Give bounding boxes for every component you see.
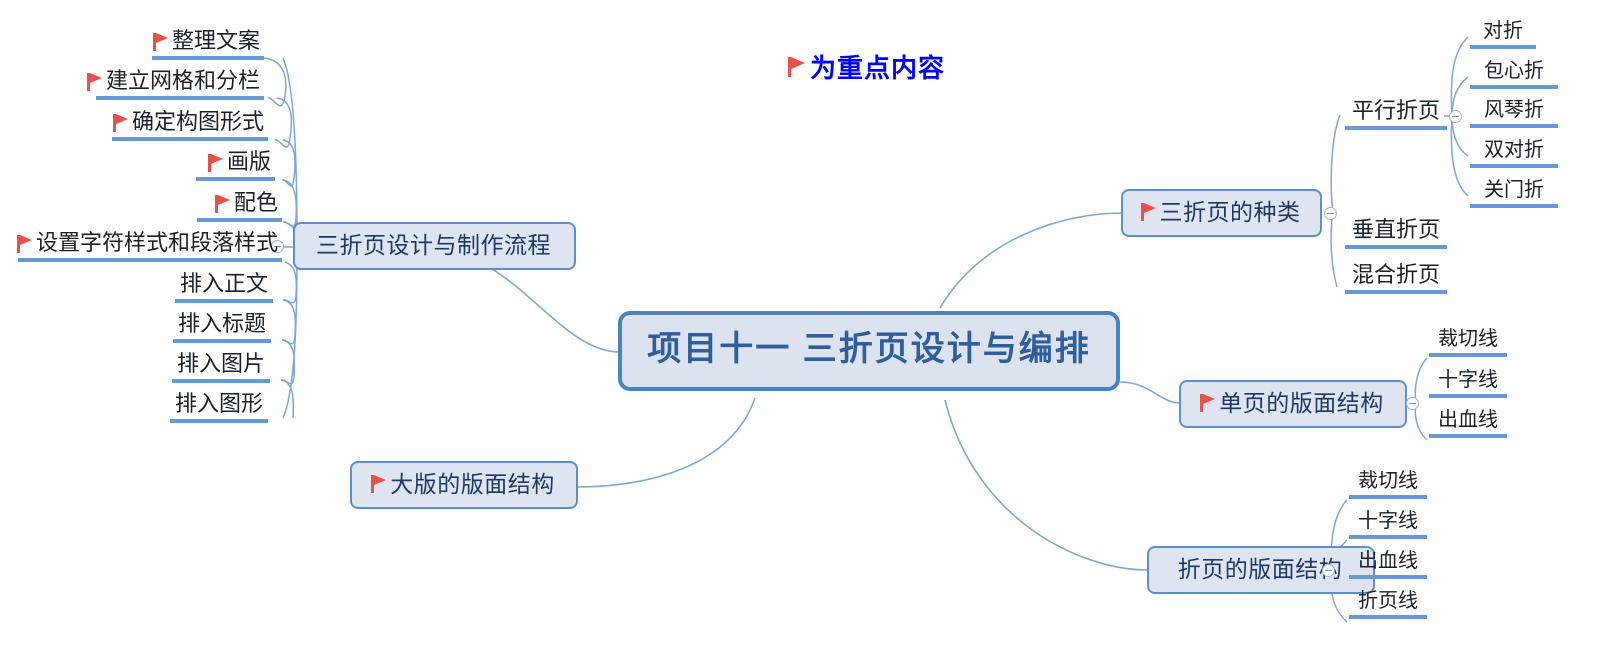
- leaf-parallel-3[interactable]: 双对折: [1470, 138, 1558, 168]
- branch-large-layout[interactable]: 大版的版面结构: [350, 461, 578, 509]
- leaf-label: 对折: [1483, 19, 1523, 44]
- leaf-parallel-0[interactable]: 对折: [1470, 19, 1536, 49]
- red-flag-icon: [1141, 202, 1157, 222]
- leaf-label: 整理文案: [172, 27, 260, 55]
- red-flag-icon: [17, 234, 33, 254]
- leaf-process-9[interactable]: 排入图形: [170, 390, 268, 423]
- leaf-label: 建立网格和分栏: [106, 67, 260, 95]
- leaf-label: 排入标题: [178, 310, 266, 338]
- leaf-fold-2[interactable]: 出血线: [1349, 549, 1427, 579]
- leaf-label: 排入图形: [175, 390, 263, 418]
- leaf-label: 关门折: [1484, 178, 1544, 203]
- leaf-process-1[interactable]: 建立网格和分栏: [96, 67, 264, 100]
- red-flag-icon: [208, 153, 224, 173]
- branch-types[interactable]: 三折页的种类: [1121, 189, 1322, 237]
- leaf-label: 风琴折: [1484, 98, 1544, 123]
- leaf-process-5[interactable]: 设置字符样式和段落样式: [18, 229, 282, 262]
- leaf-process-4[interactable]: 配色: [197, 189, 282, 222]
- leaf-fold-1[interactable]: 十字线: [1349, 509, 1427, 539]
- leaf-process-6[interactable]: 排入正文: [175, 270, 273, 303]
- leaf-label: 出血线: [1438, 408, 1498, 433]
- branch-fold-page-label: 折页的版面结构: [1178, 558, 1343, 581]
- leaf-fold-3[interactable]: 折页线: [1349, 589, 1427, 619]
- branch-single-page[interactable]: 单页的版面结构: [1179, 380, 1407, 428]
- leaf-label: 排入图片: [177, 350, 265, 378]
- node-vertical-fold[interactable]: 垂直折页: [1345, 216, 1447, 249]
- red-flag-icon: [87, 72, 103, 92]
- leaf-fold-0[interactable]: 裁切线: [1349, 469, 1427, 499]
- legend-key: 为重点内容: [788, 48, 945, 85]
- leaf-process-8[interactable]: 排入图片: [172, 350, 270, 383]
- branch-types-label: 三折页的种类: [1160, 201, 1301, 224]
- red-flag-icon: [371, 474, 387, 494]
- node-parallel-fold[interactable]: 平行折页: [1345, 97, 1447, 130]
- leaf-label: 裁切线: [1358, 469, 1418, 494]
- leaf-process-3[interactable]: 画版: [196, 148, 275, 181]
- toggle-types[interactable]: [1324, 207, 1337, 220]
- leaf-parallel-1[interactable]: 包心折: [1470, 59, 1558, 89]
- legend-text: 为重点内容: [810, 48, 945, 85]
- toggle-parallel-fold[interactable]: [1449, 110, 1462, 123]
- leaf-parallel-2[interactable]: 风琴折: [1470, 98, 1558, 128]
- leaf-label: 确定构图形式: [132, 108, 264, 136]
- red-flag-icon: [113, 113, 129, 133]
- leaf-label: 出血线: [1358, 549, 1418, 574]
- toggle-fold-page[interactable]: [1322, 564, 1335, 577]
- leaf-label: 裁切线: [1438, 327, 1498, 352]
- leaf-label: 双对折: [1484, 138, 1544, 163]
- branch-process[interactable]: 三折页设计与制作流程: [293, 222, 576, 270]
- branch-process-label: 三折页设计与制作流程: [316, 234, 551, 257]
- red-flag-icon: [153, 32, 169, 52]
- toggle-single-page[interactable]: [1406, 397, 1419, 410]
- leaf-label: 十字线: [1438, 368, 1498, 393]
- red-flag-icon: [215, 194, 231, 214]
- node-label: 平行折页: [1352, 97, 1440, 125]
- leaf-label: 折页线: [1358, 589, 1418, 614]
- leaf-parallel-4[interactable]: 关门折: [1470, 178, 1558, 208]
- central-topic-label: 项目十一 三折页设计与编排: [647, 332, 1090, 366]
- branch-large-layout-label: 大版的版面结构: [390, 473, 555, 496]
- red-flag-icon: [788, 56, 806, 78]
- leaf-single-0[interactable]: 裁切线: [1429, 327, 1507, 357]
- central-topic[interactable]: 项目十一 三折页设计与编排: [618, 311, 1120, 391]
- leaf-label: 画版: [227, 148, 271, 176]
- leaf-single-2[interactable]: 出血线: [1429, 408, 1507, 438]
- leaf-process-2[interactable]: 确定构图形式: [112, 108, 268, 141]
- leaf-label: 排入正文: [180, 270, 268, 298]
- branch-fold-page[interactable]: 折页的版面结构: [1147, 546, 1375, 594]
- node-label: 垂直折页: [1352, 216, 1440, 244]
- node-label: 混合折页: [1352, 261, 1440, 289]
- leaf-process-0[interactable]: 整理文案: [152, 27, 264, 60]
- leaf-label: 配色: [234, 189, 278, 217]
- red-flag-icon: [1200, 393, 1216, 413]
- leaf-single-1[interactable]: 十字线: [1429, 368, 1507, 398]
- leaf-label: 包心折: [1484, 59, 1544, 84]
- branch-single-page-label: 单页的版面结构: [1219, 392, 1384, 415]
- leaf-process-7[interactable]: 排入标题: [173, 310, 271, 343]
- mindmap-canvas: 为重点内容 项目十一 三折页设计与编排 三折页设计与制作流程 整理文案 建立网格…: [0, 0, 1603, 661]
- node-mixed-fold[interactable]: 混合折页: [1345, 261, 1447, 294]
- leaf-label: 设置字符样式和段落样式: [36, 229, 278, 257]
- leaf-label: 十字线: [1358, 509, 1418, 534]
